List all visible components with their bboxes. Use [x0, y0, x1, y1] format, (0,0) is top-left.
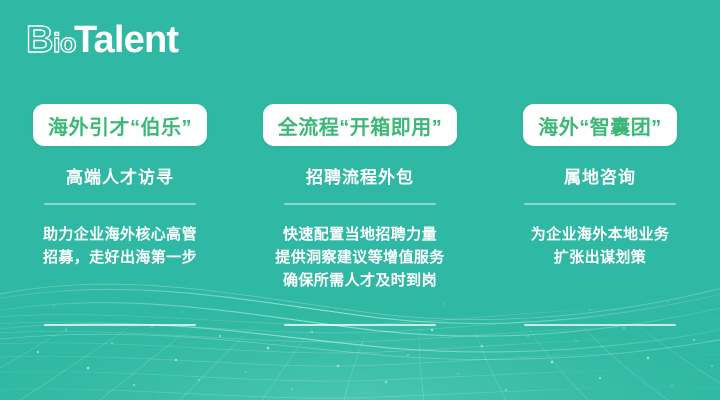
feature-body-line: 快速配置当地招聘力量	[275, 223, 444, 246]
feature-pill-label-3: 海外“智囊团”	[538, 111, 662, 140]
logo-bio-io: io	[53, 28, 76, 58]
feature-divider-1	[44, 203, 196, 205]
feature-body-line: 提供洞察建议等增值服务	[275, 246, 444, 269]
bottom-divider-cell-3	[480, 324, 720, 326]
feature-divider-2	[284, 203, 436, 205]
feature-pill-label-1: 海外引才“伯乐”	[48, 111, 192, 140]
feature-column-3: 海外“智囊团” 属地咨询 为企业海外本地业务 扩张出谋划策	[480, 104, 720, 292]
feature-body-2: 快速配置当地招聘力量 提供洞察建议等增值服务 确保所需人才及时到岗	[275, 223, 444, 292]
biotalent-logo: Bio Talent	[26, 16, 178, 64]
promo-banner: Bio Talent 海外引才“伯乐” 高端人才访寻 助力企业海外核心高管 招募…	[0, 0, 720, 400]
logo-bio-b: B	[26, 19, 53, 61]
bottom-divider-1	[44, 324, 196, 326]
feature-body-line: 招募，走好出海第一步	[43, 246, 197, 269]
bottom-divider-cell-2	[240, 324, 480, 326]
feature-body-line: 扩张出谋划策	[531, 246, 670, 269]
bottom-divider-2	[284, 324, 436, 326]
feature-pill-3: 海外“智囊团”	[523, 104, 677, 146]
logo-bio-outline: Bio	[26, 21, 76, 59]
feature-divider-3	[524, 203, 676, 205]
bottom-divider-cell-1	[0, 324, 240, 326]
feature-subtitle-3: 属地咨询	[564, 163, 636, 188]
feature-column-2: 全流程“开箱即用” 招聘流程外包 快速配置当地招聘力量 提供洞察建议等增值服务 …	[240, 104, 480, 292]
logo-talent-solid: Talent	[74, 21, 178, 59]
feature-column-1: 海外引才“伯乐” 高端人才访寻 助力企业海外核心高管 招募，走好出海第一步	[0, 104, 240, 292]
feature-body-line: 助力企业海外核心高管	[43, 223, 197, 246]
feature-pill-2: 全流程“开箱即用”	[263, 104, 458, 146]
feature-pill-label-2: 全流程“开箱即用”	[278, 111, 443, 140]
feature-body-1: 助力企业海外核心高管 招募，走好出海第一步	[43, 223, 197, 269]
feature-body-line: 确保所需人才及时到岗	[275, 269, 444, 292]
bottom-divider-row	[0, 324, 720, 326]
feature-subtitle-2: 招聘流程外包	[306, 163, 414, 188]
feature-body-line: 为企业海外本地业务	[531, 223, 670, 246]
feature-subtitle-1: 高端人才访寻	[66, 163, 174, 188]
feature-pill-1: 海外引才“伯乐”	[33, 104, 207, 146]
bottom-divider-3	[524, 324, 676, 326]
feature-body-3: 为企业海外本地业务 扩张出谋划策	[531, 223, 670, 269]
feature-columns: 海外引才“伯乐” 高端人才访寻 助力企业海外核心高管 招募，走好出海第一步 全流…	[0, 104, 720, 292]
